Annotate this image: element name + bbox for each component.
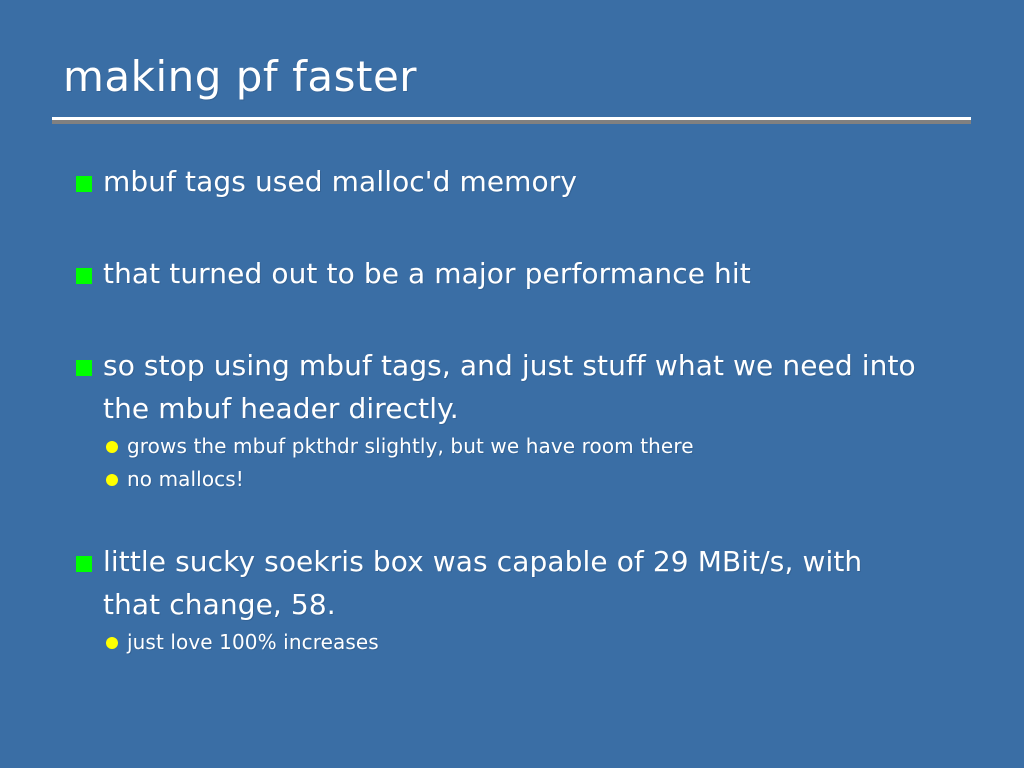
list-item: little sucky soekris box was capable of … bbox=[0, 540, 923, 626]
spacer bbox=[0, 295, 1024, 344]
sub-list-item: grows the mbuf pkthdr slightly, but we h… bbox=[0, 430, 1024, 463]
slide: making pf faster mbuf tags used malloc'd… bbox=[0, 0, 1024, 768]
list-item-label: so stop using mbuf tags, and just stuff … bbox=[103, 349, 916, 425]
spacer bbox=[0, 203, 1024, 252]
bullet-block-4: little sucky soekris box was capable of … bbox=[0, 540, 1024, 659]
bullet-block-1: mbuf tags used malloc'd memory bbox=[0, 160, 1024, 203]
dot-bullet-icon bbox=[106, 637, 118, 649]
bullet-block-3: so stop using mbuf tags, and just stuff … bbox=[0, 344, 1024, 496]
sub-list-item-label: just love 100% increases bbox=[127, 630, 379, 654]
page-title: making pf faster bbox=[63, 56, 417, 98]
sub-list-item: just love 100% increases bbox=[0, 626, 1024, 659]
sub-list-item-label: grows the mbuf pkthdr slightly, but we h… bbox=[127, 434, 694, 458]
list-item-label: mbuf tags used malloc'd memory bbox=[103, 165, 577, 198]
slide-body: mbuf tags used malloc'd memory that turn… bbox=[0, 160, 1024, 659]
square-bullet-icon bbox=[76, 360, 92, 376]
square-bullet-icon bbox=[76, 176, 92, 192]
sub-list-item: no mallocs! bbox=[0, 463, 1024, 496]
list-item-label: that turned out to be a major performanc… bbox=[103, 257, 751, 290]
dot-bullet-icon bbox=[106, 474, 118, 486]
bullet-block-2: that turned out to be a major performanc… bbox=[0, 252, 1024, 295]
list-item-label: little sucky soekris box was capable of … bbox=[103, 545, 862, 621]
spacer bbox=[0, 496, 1024, 540]
title-underline-shadow bbox=[52, 120, 971, 124]
sub-list-item-label: no mallocs! bbox=[127, 467, 244, 491]
list-item: that turned out to be a major performanc… bbox=[0, 252, 1024, 295]
dot-bullet-icon bbox=[106, 441, 118, 453]
list-item: so stop using mbuf tags, and just stuff … bbox=[0, 344, 963, 430]
square-bullet-icon bbox=[76, 556, 92, 572]
list-item: mbuf tags used malloc'd memory bbox=[0, 160, 1024, 203]
square-bullet-icon bbox=[76, 268, 92, 284]
